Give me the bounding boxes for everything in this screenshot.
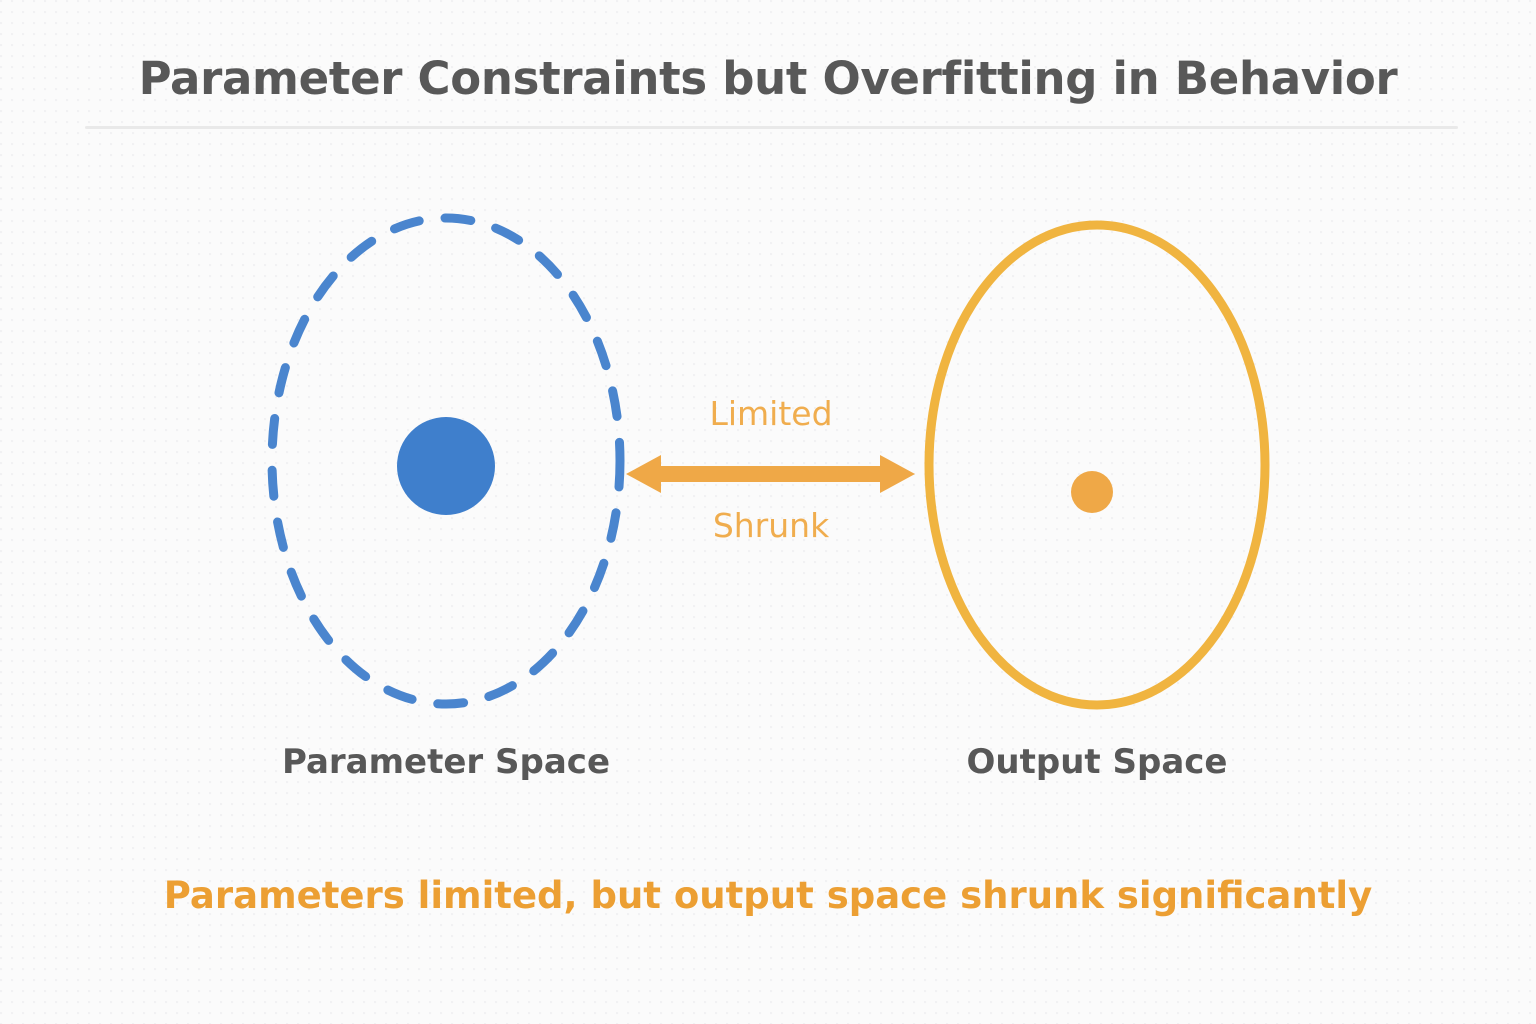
output-space-ellipse	[929, 225, 1265, 705]
diagram-caption: Parameters limited, but output space shr…	[0, 874, 1536, 917]
output-space-label: Output Space	[897, 742, 1297, 782]
double-arrow-icon	[626, 455, 915, 493]
arrow-label-shrunk: Shrunk	[621, 506, 921, 545]
parameter-space-label: Parameter Space	[246, 742, 646, 782]
arrow-label-limited: Limited	[621, 394, 921, 433]
diagram-canvas: Parameter Constraints but Overfitting in…	[0, 0, 1536, 1024]
output-space-dot	[1071, 471, 1113, 513]
parameter-space-dot	[397, 417, 495, 515]
